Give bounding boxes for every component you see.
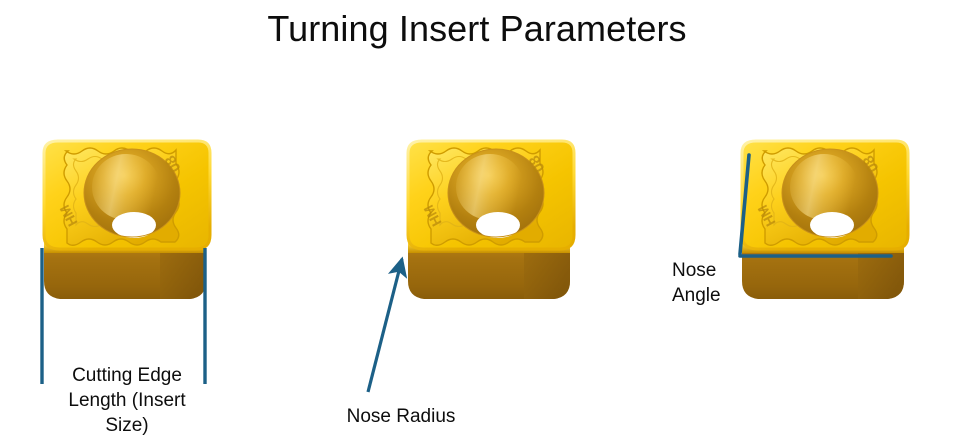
insert-flank-face-right [160,249,206,299]
insert-hole-specular [790,154,858,220]
turning-insert-render-2: 08 HM [404,131,580,307]
turning-insert-render-1: 08 HM [40,131,216,307]
page-title: Turning Insert Parameters [0,8,954,50]
insert-figure-cutting-edge: 08 HM [40,131,216,307]
insert-hole-specular [456,154,524,220]
caption-cutting-edge-length: Cutting Edge Length (Insert Size) [22,363,232,438]
insert-figure-nose-radius: 08 HM [404,131,580,307]
caption-nose-radius: Nose Radius [256,404,546,429]
insert-flank-face-right [524,249,570,299]
insert-flank-face-right [858,249,904,299]
caption-nose-angle: Nose Angle [672,258,782,308]
diagram-canvas: Turning Insert Parameters [0,0,954,448]
nose-radius-leader-arrow [368,259,402,392]
insert-hole-specular [92,154,160,220]
